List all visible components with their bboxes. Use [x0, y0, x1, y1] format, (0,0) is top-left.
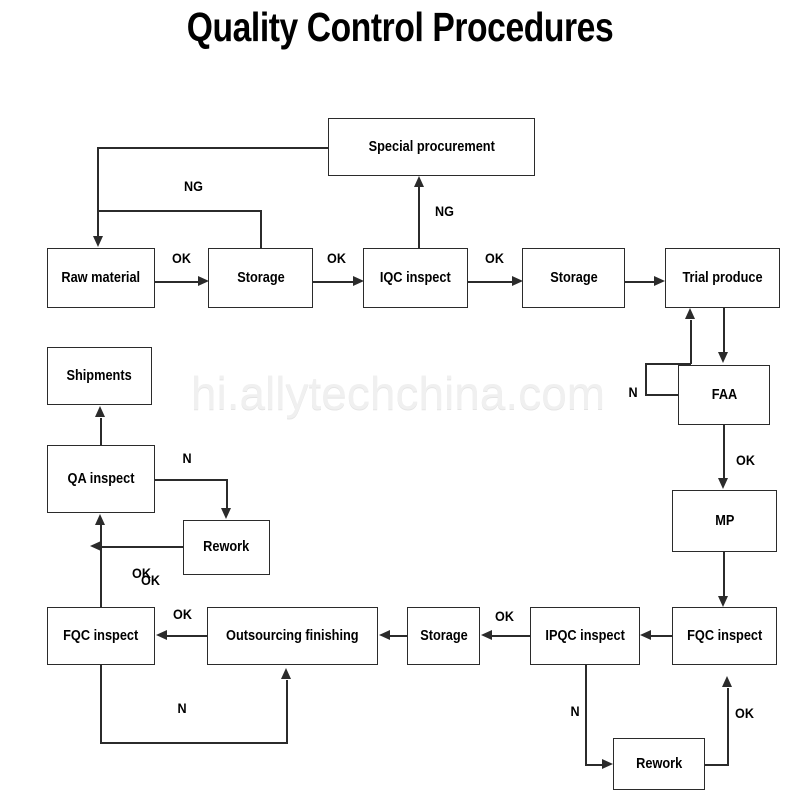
arrowhead-into-outsourcing: [379, 630, 390, 640]
edge-label-rework-bottom-ok: OK: [735, 705, 754, 721]
edge-label-raw-to-storage: OK: [172, 250, 191, 266]
node-rework-bottom[interactable]: Rework: [613, 738, 705, 790]
node-label: Shipments: [67, 369, 132, 384]
edge-storage-to-iqc: [313, 281, 356, 283]
arrowhead-into-fqc-right: [718, 596, 728, 607]
edge-label-iqc-ng: NG: [435, 203, 454, 219]
arrowhead-into-outsourcing-bottom: [281, 668, 291, 679]
arrowhead-into-ipqc: [640, 630, 651, 640]
node-storage-2[interactable]: Storage: [522, 248, 625, 308]
edge-mp-to-fqc-right: [723, 552, 725, 597]
edge-fqc-left-n-up: [286, 680, 288, 743]
node-rework-left[interactable]: Rework: [183, 520, 270, 575]
edge-qa-n-down: [226, 479, 228, 509]
arrowhead-into-rework-left: [221, 508, 231, 519]
node-label: Trial produce: [682, 271, 762, 286]
node-label: FQC inspect: [63, 629, 138, 644]
edge-trial-to-faa: [723, 308, 725, 353]
edge-iqc-ng-up: [418, 186, 420, 248]
node-label: Rework: [636, 757, 682, 772]
node-label: Raw material: [62, 271, 141, 286]
node-trial-produce[interactable]: Trial produce: [665, 248, 780, 308]
arrowhead-into-faa: [718, 352, 728, 363]
node-label: QA inspect: [68, 472, 135, 487]
edge-label-iqc-to-storage2: OK: [485, 250, 504, 266]
arrowhead-rework-into-fqc-right: [722, 676, 732, 687]
node-label: Rework: [203, 540, 249, 555]
edge-label-outsourcing-ok: OK: [173, 606, 192, 622]
arrowhead-storage2-to-trial: [654, 276, 665, 286]
node-storage-3[interactable]: Storage: [407, 607, 480, 665]
arrowhead-into-trial-produce: [685, 308, 695, 319]
edge-rework-left-to-qa: [100, 546, 185, 548]
node-fqc-inspect-left[interactable]: FQC inspect: [47, 607, 155, 665]
arrowhead-into-qa-inspect: [95, 514, 105, 525]
edge-faa-n-up2: [690, 320, 692, 364]
edge-faa-n-left: [645, 394, 680, 396]
arrowhead-into-shipments: [95, 406, 105, 417]
edge-label-storage-ng: NG: [184, 178, 203, 194]
arrowhead-into-special-procurement: [414, 176, 424, 187]
edge-label-rework-left-ok: OK: [141, 572, 160, 588]
edge-raw-to-storage: [155, 281, 201, 283]
node-label: FQC inspect: [687, 629, 762, 644]
flowchart-canvas: Quality Control Procedures Special procu…: [0, 0, 800, 800]
node-faa[interactable]: FAA: [678, 365, 770, 425]
node-label: Storage: [550, 271, 598, 286]
node-label: Special procurement: [368, 140, 494, 155]
node-qa-inspect[interactable]: QA inspect: [47, 445, 155, 513]
arrowhead-into-rework-bottom: [602, 759, 613, 769]
edge-qa-to-shipments: [100, 418, 102, 448]
node-outsourcing-finishing[interactable]: Outsourcing finishing: [207, 607, 378, 665]
edge-qa-n-right: [155, 479, 227, 481]
arrowhead-iqc-to-storage2: [512, 276, 523, 286]
arrowhead-into-raw-material: [93, 236, 103, 247]
edge-fqc-left-to-qa: [100, 525, 102, 607]
node-mp[interactable]: MP: [672, 490, 777, 552]
edge-label-faa-n: N: [629, 384, 638, 400]
edge-storage1-ng-up: [260, 210, 262, 250]
site-watermark: hi.allytechchina.com: [168, 366, 628, 420]
arrowhead-storage-to-iqc: [353, 276, 364, 286]
node-storage-1[interactable]: Storage: [208, 248, 313, 308]
edge-label-ipqc-n: N: [571, 703, 580, 719]
edge-storage2-to-trial: [625, 281, 657, 283]
edge-storage1-ng-left: [97, 210, 262, 212]
node-label: Outsourcing finishing: [226, 629, 359, 644]
arrowhead-rework-into-qa: [90, 541, 101, 551]
node-label: Storage: [420, 629, 468, 644]
node-iqc-inspect[interactable]: IQC inspect: [363, 248, 468, 308]
node-label: MP: [715, 514, 734, 529]
node-shipments[interactable]: Shipments: [47, 347, 152, 405]
edge-rework-bottom-up: [727, 688, 729, 765]
node-label: FAA: [711, 388, 737, 403]
node-special-procurement[interactable]: Special procurement: [328, 118, 535, 176]
node-label: IQC inspect: [380, 271, 451, 286]
edge-left-down-to-raw: [97, 147, 99, 238]
edge-special-to-left: [97, 147, 330, 149]
edge-label-ipqc-ok: OK: [495, 608, 514, 624]
edge-outsourcing-to-fqc-left: [167, 635, 209, 637]
edge-label-qa-n: N: [183, 450, 192, 466]
edge-faa-to-mp: [723, 425, 725, 479]
arrowhead-into-fqc-left: [156, 630, 167, 640]
edge-fqc-left-n-right: [100, 742, 288, 744]
edge-fqc-left-n-down: [100, 665, 102, 743]
edge-ipqc-n-down: [585, 665, 587, 764]
node-fqc-inspect-right[interactable]: FQC inspect: [672, 607, 777, 665]
arrowhead-raw-to-storage: [198, 276, 209, 286]
arrowhead-into-storage3: [481, 630, 492, 640]
node-label: IPQC inspect: [545, 629, 624, 644]
edge-fqc-right-to-ipqc: [650, 635, 674, 637]
edge-label-faa-ok: OK: [736, 452, 755, 468]
edge-iqc-to-storage2: [468, 281, 515, 283]
node-label: Storage: [237, 271, 285, 286]
edge-rework-bottom-right: [705, 764, 729, 766]
edge-label-storage-to-iqc: OK: [327, 250, 346, 266]
arrowhead-into-mp: [718, 478, 728, 489]
edge-ipqc-to-storage3: [492, 635, 532, 637]
edge-faa-n-up: [645, 363, 647, 395]
page-title: Quality Control Procedures: [72, 4, 728, 51]
node-ipqc-inspect[interactable]: IPQC inspect: [530, 607, 640, 665]
edge-label-fqc-left-n: N: [178, 700, 187, 716]
node-raw-material[interactable]: Raw material: [47, 248, 155, 308]
